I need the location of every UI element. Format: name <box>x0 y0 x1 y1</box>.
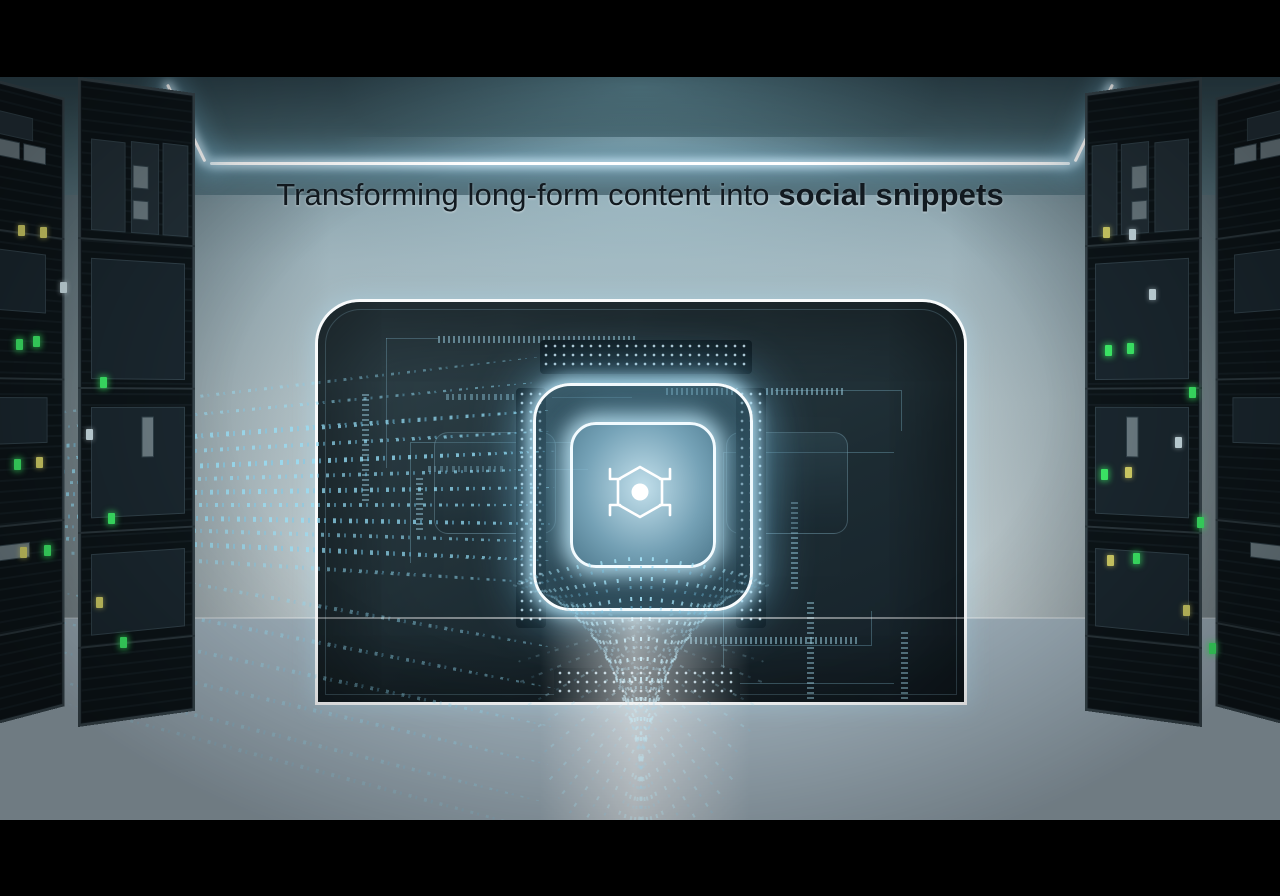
rack-led <box>18 225 25 236</box>
rack-led <box>1127 343 1134 354</box>
server-rack-stack-right <box>1085 77 1280 727</box>
page-title: Transforming long-form content into soci… <box>0 177 1280 213</box>
server-rack <box>1085 77 1202 727</box>
rack-led <box>108 513 115 524</box>
schematic-dashcol <box>901 632 908 702</box>
hexagon-scan-icon <box>604 459 676 525</box>
rack-led <box>100 377 107 388</box>
scene-stage: Transforming long-form content into soci… <box>0 0 1280 896</box>
room-scene: Transforming long-form content into soci… <box>0 77 1280 820</box>
rack-led <box>20 547 27 558</box>
title-part-semibold: social <box>778 177 875 212</box>
rack-led <box>120 637 127 648</box>
rack-led <box>1133 553 1140 564</box>
rack-led <box>1129 229 1136 240</box>
rack-led <box>1175 437 1182 448</box>
rack-led <box>60 282 67 293</box>
server-rack <box>0 77 65 727</box>
rack-led <box>44 545 51 556</box>
rack-led <box>40 227 47 238</box>
title-part-regular: Transforming long-form content into <box>276 177 778 212</box>
rack-led <box>36 457 43 468</box>
schematic-trace <box>386 338 438 339</box>
letterbox-bottom <box>0 820 1280 896</box>
rack-led <box>33 336 40 347</box>
rack-led <box>14 459 21 470</box>
schematic-dashcol <box>416 478 423 532</box>
floor-specular-sheen <box>540 618 750 820</box>
rack-led <box>86 429 93 440</box>
rack-led <box>1125 467 1132 478</box>
rack-led <box>1149 289 1156 300</box>
schematic-bracket <box>775 390 902 431</box>
schematic-dashcol <box>362 394 369 504</box>
ceiling-light-strip <box>168 83 1112 171</box>
schematic-trace <box>386 338 387 468</box>
letterbox-top <box>0 0 1280 77</box>
rack-led <box>1101 469 1108 480</box>
rack-led <box>1103 227 1110 238</box>
title-part-bold: snippets <box>876 177 1004 212</box>
rack-led <box>1105 345 1112 356</box>
rack-led <box>96 597 103 608</box>
server-rack <box>1215 77 1280 727</box>
pin-grid-top <box>544 344 748 371</box>
rack-led <box>16 339 23 350</box>
rack-led <box>1209 643 1216 654</box>
rack-led <box>1107 555 1114 566</box>
rack-led <box>1183 605 1190 616</box>
rack-led <box>1189 387 1196 398</box>
server-rack <box>78 77 195 727</box>
server-rack-stack-left <box>0 77 195 727</box>
rack-led <box>1197 517 1204 528</box>
